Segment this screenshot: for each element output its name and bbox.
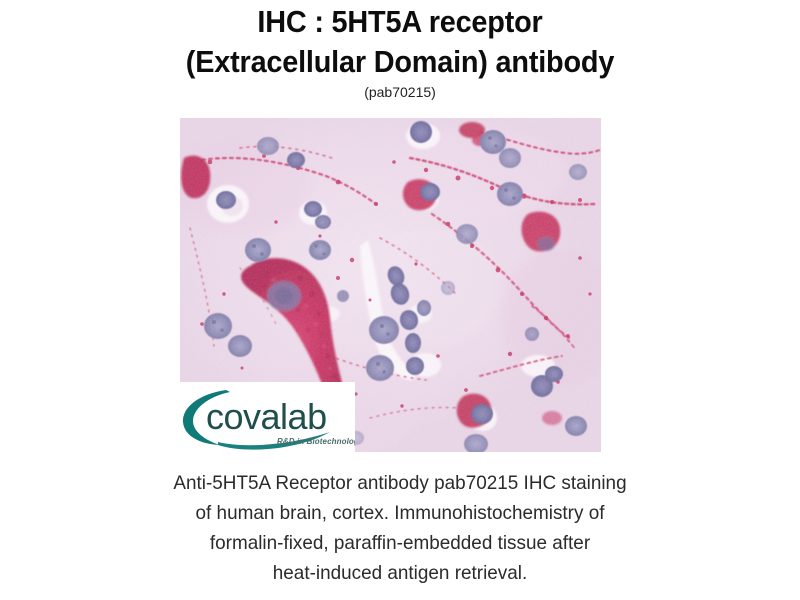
caption-line-4: heat-induced antigen retrieval. — [70, 558, 730, 588]
caption-line-2: of human brain, cortex. Immunohistochemi… — [70, 498, 730, 528]
logo-tagline: R&D in Biotechnology — [277, 437, 355, 446]
caption-line-1: Anti-5HT5A Receptor antibody pab70215 IH… — [70, 468, 730, 498]
covalab-logo: covalab R&D in Biotechnology — [180, 382, 355, 452]
page-title-line-1: IHC : 5HT5A receptor — [28, 0, 772, 42]
catalog-number: (pab70215) — [0, 83, 800, 101]
covalab-logo-svg: covalab R&D in Biotechnology — [180, 382, 355, 452]
logo-wordmark: covalab — [206, 396, 327, 437]
page-title-line-2: (Extracellular Domain) antibody — [28, 42, 772, 82]
figure-title-block: IHC : 5HT5A receptor (Extracellular Doma… — [0, 0, 800, 101]
caption-line-3: formalin-fixed, paraffin-embedded tissue… — [70, 528, 730, 558]
figure-caption: Anti-5HT5A Receptor antibody pab70215 IH… — [60, 468, 740, 588]
